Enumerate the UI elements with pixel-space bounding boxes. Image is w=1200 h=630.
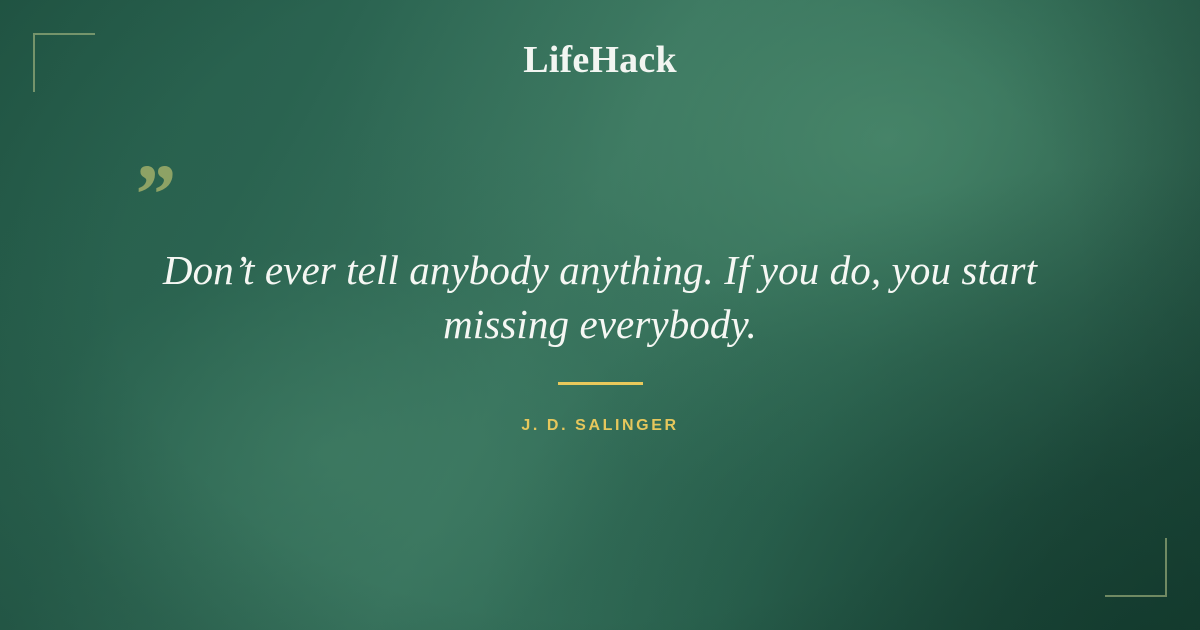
divider-rule	[558, 382, 643, 385]
quote-card: LifeHack ” Don’t ever tell anybody anyth…	[0, 0, 1200, 630]
quote-text: Don’t ever tell anybody anything. If you…	[140, 243, 1060, 351]
quotation-mark-icon: ”	[131, 151, 174, 237]
corner-bracket-bottom-right-icon	[1105, 538, 1167, 597]
lifehack-logo: LifeHack	[0, 41, 1200, 79]
quote-author: J. D. SALINGER	[0, 416, 1200, 435]
